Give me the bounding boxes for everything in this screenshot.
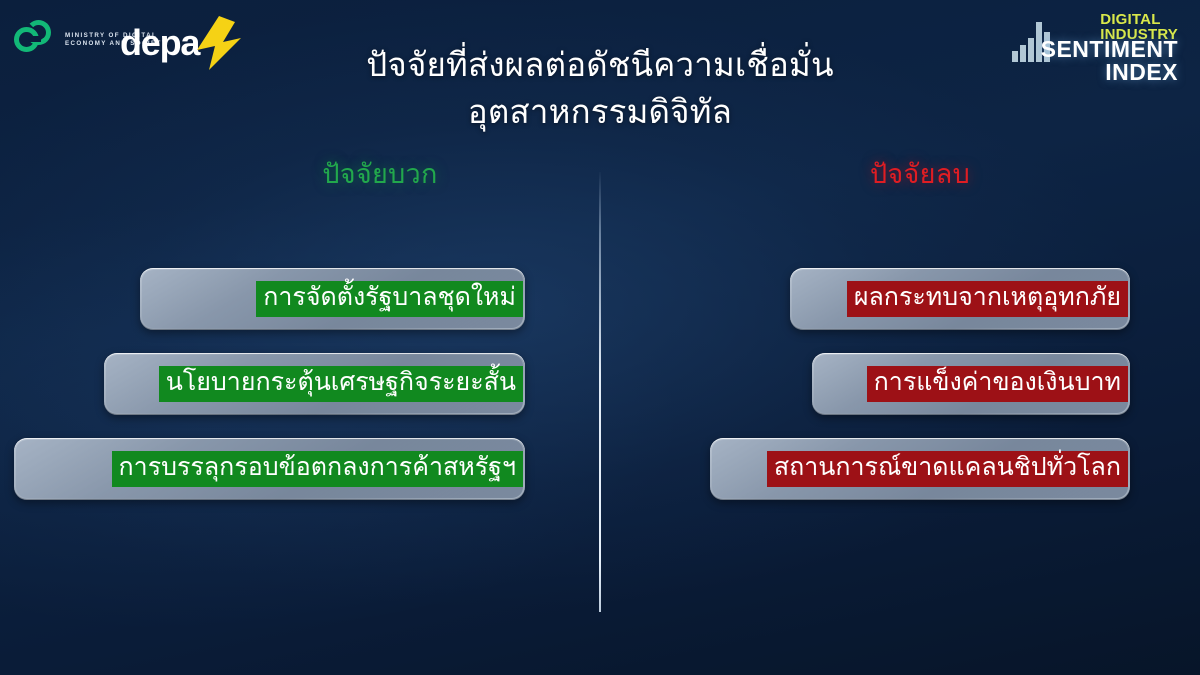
factor-plaque[interactable]: ผลกระทบจากเหตุอุทกภัย [790, 268, 1130, 330]
logo-line-digital: DIGITAL [1100, 12, 1178, 27]
factor-plaque[interactable]: สถานการณ์ขาดแคลนชิปทั่วโลก [710, 438, 1130, 500]
list-item[interactable]: สถานการณ์ขาดแคลนชิปทั่วโลก [600, 432, 1200, 517]
list-item[interactable]: นโยบายกระตุ้นเศรษฐกิจระยะสั้น [0, 347, 600, 432]
list-item[interactable]: ผลกระทบจากเหตุอุทกภัย [600, 262, 1200, 347]
negative-column-heading: ปัจจัยลบ [770, 158, 1070, 190]
factor-plaque-inner: การแข็งค่าของเงินบาท [814, 355, 1128, 413]
positive-factors-list: การจัดตั้งรัฐบาลชุดใหม่ นโยบายกระตุ้นเศร… [0, 262, 600, 517]
list-item[interactable]: การแข็งค่าของเงินบาท [600, 347, 1200, 432]
negative-factors-list: ผลกระทบจากเหตุอุทกภัย การแข็งค่าของเงินบ… [600, 262, 1200, 517]
slide-title-line-1: ปัจจัยที่ส่งผลต่อดัชนีความเชื่อมั่น [0, 42, 1200, 89]
factor-plaque-inner: สถานการณ์ขาดแคลนชิปทั่วโลก [712, 440, 1128, 498]
slide-canvas: MINISTRY OF DIGITAL ECONOMY AND SOCIETY … [0, 0, 1200, 675]
factor-label: นโยบายกระตุ้นเศรษฐกิจระยะสั้น [159, 366, 523, 402]
factor-label: การจัดตั้งรัฐบาลชุดใหม่ [256, 281, 523, 317]
slide-title-line-2: อุตสาหกรรมดิจิทัล [0, 89, 1200, 136]
factor-label: สถานการณ์ขาดแคลนชิปทั่วโลก [767, 451, 1128, 487]
factor-label: ผลกระทบจากเหตุอุทกภัย [847, 281, 1128, 317]
factor-plaque[interactable]: การแข็งค่าของเงินบาท [812, 353, 1130, 415]
list-item[interactable]: การจัดตั้งรัฐบาลชุดใหม่ [0, 262, 600, 347]
factor-plaque-inner: การจัดตั้งรัฐบาลชุดใหม่ [142, 270, 523, 328]
factor-plaque-inner: การบรรลุกรอบข้อตกลงการค้าสหรัฐฯ [16, 440, 523, 498]
list-item[interactable]: การบรรลุกรอบข้อตกลงการค้าสหรัฐฯ [0, 432, 600, 517]
factor-label: การแข็งค่าของเงินบาท [867, 366, 1128, 402]
positive-column-heading: ปัจจัยบวก [230, 158, 530, 190]
factor-label: การบรรลุกรอบข้อตกลงการค้าสหรัฐฯ [112, 451, 523, 487]
factor-plaque-inner: ผลกระทบจากเหตุอุทกภัย [792, 270, 1128, 328]
factor-plaque[interactable]: การบรรลุกรอบข้อตกลงการค้าสหรัฐฯ [14, 438, 525, 500]
slide-title: ปัจจัยที่ส่งผลต่อดัชนีความเชื่อมั่น อุตส… [0, 42, 1200, 136]
factor-plaque[interactable]: นโยบายกระตุ้นเศรษฐกิจระยะสั้น [104, 353, 525, 415]
factor-plaque[interactable]: การจัดตั้งรัฐบาลชุดใหม่ [140, 268, 525, 330]
factor-plaque-inner: นโยบายกระตุ้นเศรษฐกิจระยะสั้น [106, 355, 523, 413]
